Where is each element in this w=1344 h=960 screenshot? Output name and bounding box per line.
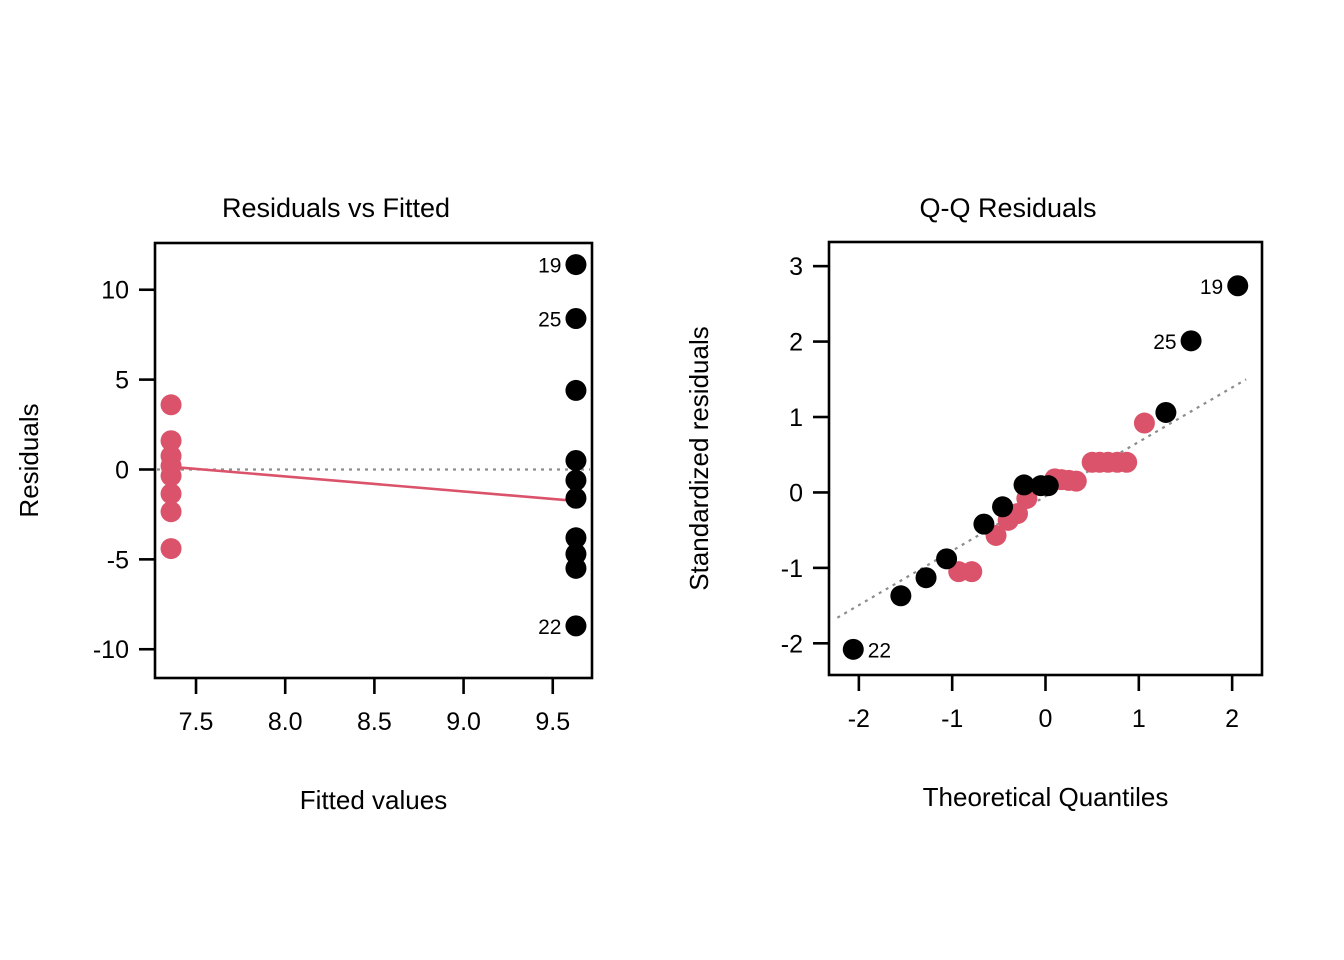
- data-point: [565, 380, 586, 401]
- data-point: [843, 639, 864, 660]
- data-point: [161, 483, 182, 504]
- y-axis-tick-label: -10: [93, 636, 129, 664]
- x-axis-title: Theoretical Quantiles: [923, 782, 1169, 812]
- data-point: [565, 450, 586, 471]
- data-point: [1181, 330, 1202, 351]
- qq-reference-line: [837, 379, 1246, 617]
- data-point: [1116, 452, 1137, 473]
- data-point: [992, 496, 1013, 517]
- data-point: [1155, 402, 1176, 423]
- y-axis-tick-label: 0: [789, 479, 803, 507]
- data-point: [161, 501, 182, 522]
- x-axis-tick-label: 9.5: [535, 708, 570, 736]
- y-axis-tick-label: 10: [101, 277, 129, 305]
- data-point: [161, 538, 182, 559]
- y-axis-tick-label: 3: [789, 253, 803, 281]
- loess-smooth-line: [171, 467, 576, 501]
- plot-area-qq-residuals: -2-10123210-1-2Theoretical QuantilesStan…: [672, 0, 1344, 960]
- data-point: [161, 455, 182, 476]
- data-point: [1066, 471, 1087, 492]
- data-point: [973, 514, 994, 535]
- plot-frame: [155, 243, 592, 678]
- plot-area-residuals-vs-fitted: 7.58.08.59.09.51050-5-10Fitted valuesRes…: [0, 0, 672, 960]
- outlier-label-25: 25: [1153, 331, 1176, 354]
- data-point: [565, 308, 586, 329]
- x-axis-tick-label: 9.0: [446, 708, 481, 736]
- outlier-label-22: 22: [538, 616, 561, 639]
- x-axis-tick-label: -1: [941, 705, 963, 733]
- panel-qq-residuals: Q-Q Residuals -2-10123210-1-2Theoretical…: [672, 0, 1344, 960]
- data-point: [565, 470, 586, 491]
- y-axis-tick-label: 2: [789, 329, 803, 357]
- y-axis-tick-label: 1: [789, 404, 803, 432]
- data-point: [936, 548, 957, 569]
- data-point: [1227, 275, 1248, 296]
- data-point: [916, 567, 937, 588]
- x-axis-tick-label: 2: [1225, 705, 1239, 733]
- data-point: [1038, 475, 1059, 496]
- y-axis-tick-label: -2: [781, 630, 803, 658]
- y-axis-title: Residuals: [14, 403, 44, 517]
- y-axis-tick-label: 0: [115, 456, 129, 484]
- x-axis-tick-label: 7.5: [179, 708, 214, 736]
- x-axis-tick-label: 8.0: [268, 708, 303, 736]
- x-axis-title: Fitted values: [300, 785, 447, 815]
- x-axis-tick-label: 1: [1132, 705, 1146, 733]
- data-point: [565, 254, 586, 275]
- data-point: [565, 558, 586, 579]
- outlier-label-19: 19: [1200, 276, 1223, 299]
- x-axis-tick-label: -2: [848, 705, 870, 733]
- outlier-label-19: 19: [538, 255, 561, 278]
- x-axis-tick-label: 8.5: [357, 708, 392, 736]
- data-point: [890, 585, 911, 606]
- outlier-label-25: 25: [538, 308, 561, 331]
- data-point: [161, 394, 182, 415]
- data-point: [565, 615, 586, 636]
- data-point: [961, 561, 982, 582]
- diagnostic-plot-figure: Residuals vs Fitted 7.58.08.59.09.51050-…: [0, 0, 1344, 960]
- y-axis-tick-label: -1: [781, 555, 803, 583]
- y-axis-title: Standardized residuals: [684, 326, 714, 591]
- outlier-label-22: 22: [868, 639, 891, 662]
- y-axis-tick-label: -5: [107, 546, 129, 574]
- x-axis-tick-label: 0: [1039, 705, 1053, 733]
- data-point: [1134, 413, 1155, 434]
- data-point: [565, 488, 586, 509]
- panel-residuals-vs-fitted: Residuals vs Fitted 7.58.08.59.09.51050-…: [0, 0, 672, 960]
- y-axis-tick-label: 5: [115, 367, 129, 395]
- plot-frame: [829, 242, 1262, 675]
